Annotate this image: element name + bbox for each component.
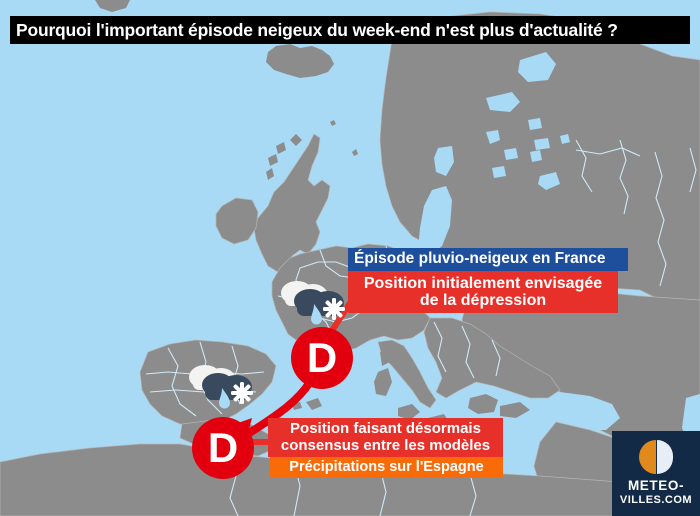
rain-snow-icon-spain — [185, 360, 261, 418]
logo-half-white — [657, 440, 673, 474]
logo-text-line1: METEO- — [628, 479, 684, 494]
label-consensus-position: Position faisant désormais consensus ent… — [268, 418, 503, 457]
label-precipitation-spain: Précipitations sur l'Espagne — [270, 457, 503, 478]
depression-marker-spain-letter: D — [208, 427, 238, 469]
label-consensus-position-line1: Position faisant désormais — [290, 421, 481, 437]
logo-half-orange — [639, 440, 656, 474]
label-episode-france-text: Épisode pluvio-neigeux en France — [354, 251, 606, 268]
depression-marker-france-letter: D — [307, 337, 337, 379]
label-precipitation-spain-text: Précipitations sur l'Espagne — [289, 460, 483, 476]
label-initial-position-line2: de la dépression — [420, 292, 546, 309]
logo-circle-icon — [639, 440, 673, 474]
meteo-villes-logo[interactable]: METEO- VILLES.COM — [612, 431, 700, 516]
depression-marker-spain: D — [192, 417, 254, 479]
label-initial-position: Position initialement envisagée de la dé… — [348, 271, 618, 313]
snowflake — [231, 382, 253, 404]
snowflake — [323, 298, 345, 320]
label-episode-france: Épisode pluvio-neigeux en France — [348, 248, 628, 271]
label-initial-position-line1: Position initialement envisagée — [364, 275, 602, 292]
label-consensus-position-line2: consensus entre les modèles — [281, 438, 490, 454]
headline-banner: Pourquoi l'important épisode neigeux du … — [10, 16, 690, 44]
logo-text-line2: VILLES.COM — [620, 494, 692, 507]
depression-marker-france: D — [291, 327, 353, 389]
rain-snow-icon-france — [275, 276, 351, 334]
weather-map-infographic: Pourquoi l'important épisode neigeux du … — [0, 0, 700, 516]
headline-text: Pourquoi l'important épisode neigeux du … — [16, 20, 618, 41]
